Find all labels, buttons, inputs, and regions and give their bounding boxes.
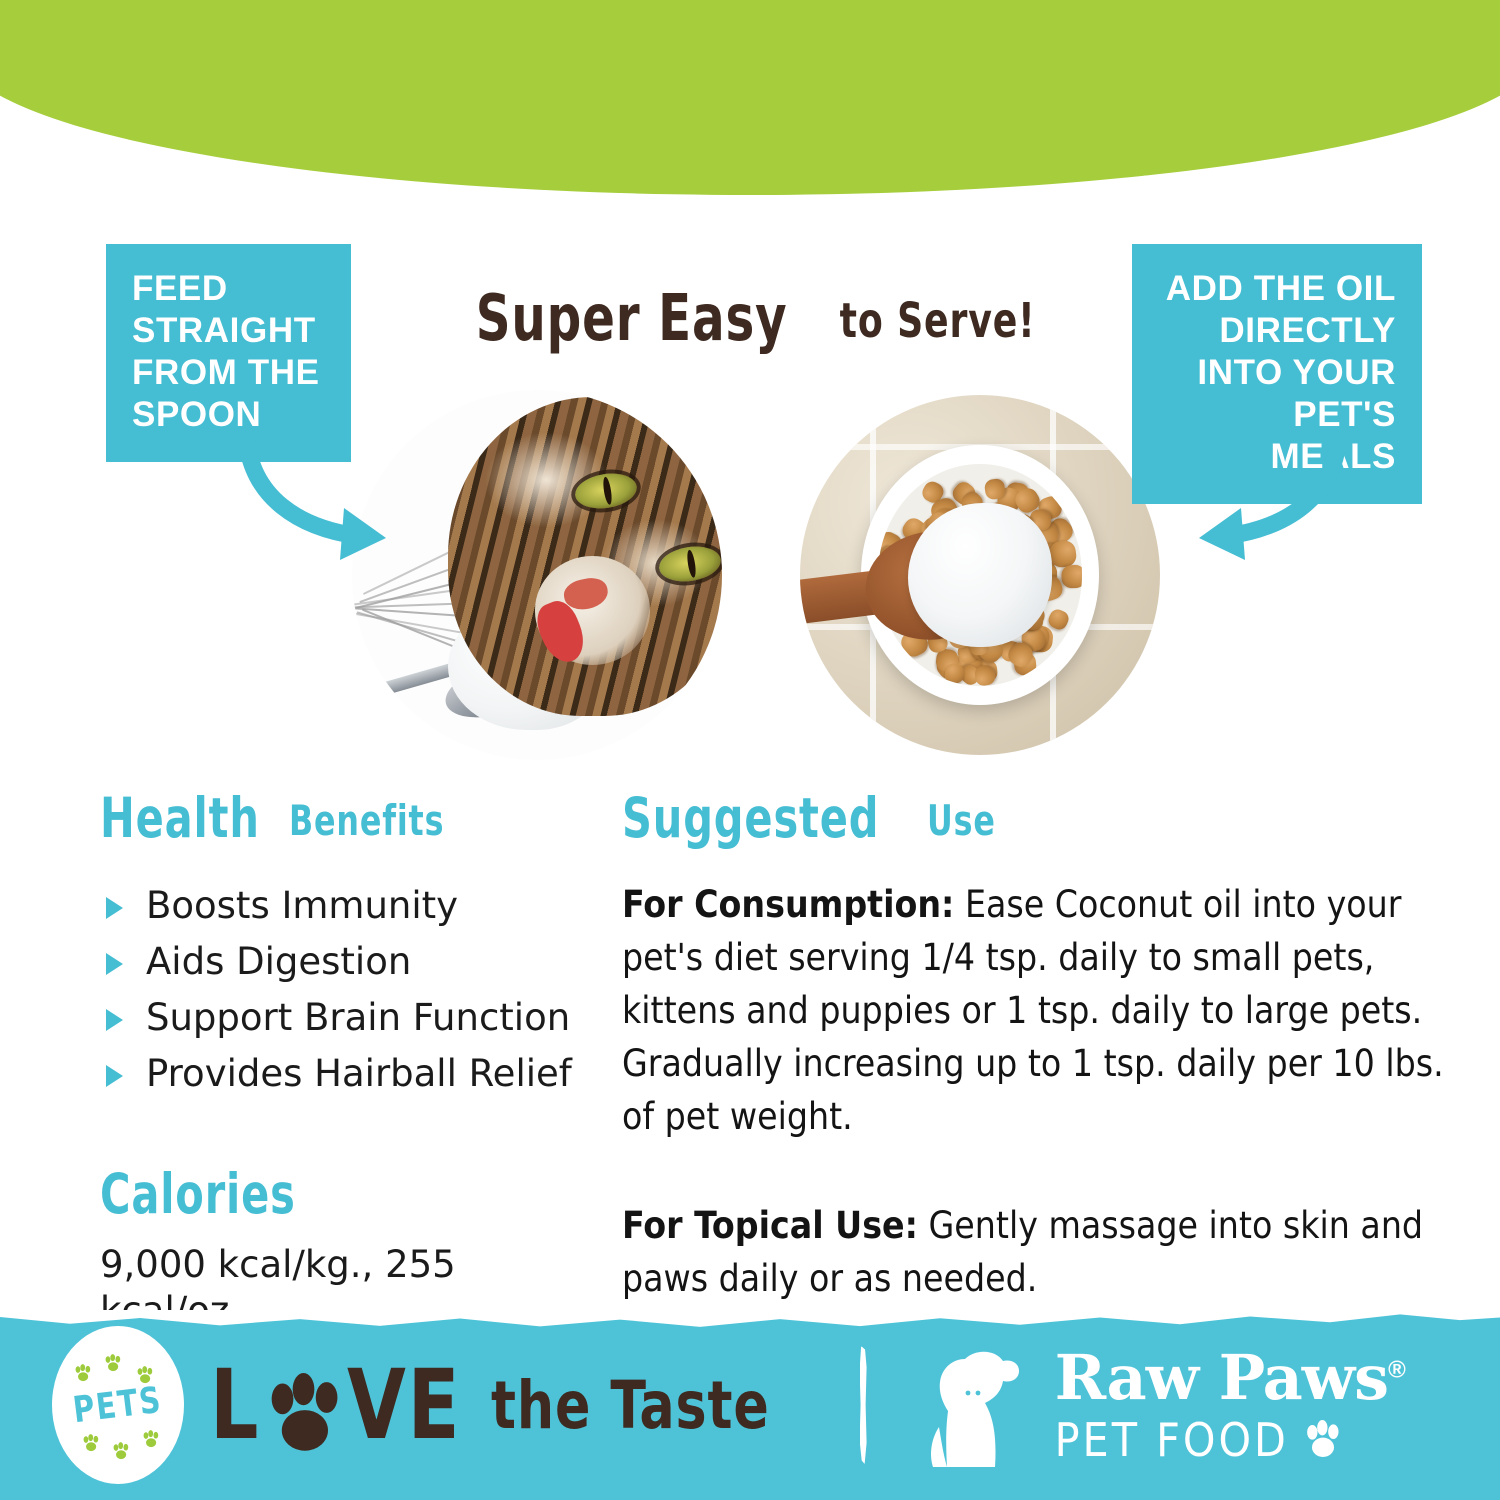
list-item: Aids Digestion xyxy=(100,934,600,990)
health-benefits-list: Boosts Immunity Aids Digestion Support B… xyxy=(100,878,600,1102)
dog-and-cat-silhouette-icon xyxy=(907,1335,1039,1475)
kibble-piece xyxy=(1062,564,1082,588)
paw-print-icon xyxy=(136,1366,155,1385)
cat-head xyxy=(448,397,722,715)
consumption-paragraph: For Consumption: Ease Coconut oil into y… xyxy=(622,878,1452,1143)
hero-heading-small: to Serve! xyxy=(840,293,1036,349)
list-item: Provides Hairball Relief xyxy=(100,1046,600,1102)
footer-teal-banner: PETS xyxy=(0,1310,1500,1500)
cat-eye-left xyxy=(573,469,640,512)
brand-name: Raw Paws® xyxy=(1055,1347,1405,1409)
list-item-label: Boosts Immunity xyxy=(146,884,458,927)
bullet-triangle-icon xyxy=(106,1065,123,1087)
suggested-use-column: Suggested Use For Consumption: Ease Coco… xyxy=(622,786,1452,1305)
brand-text-block: Raw Paws® PET FOOD xyxy=(1055,1347,1405,1463)
list-item-label: Provides Hairball Relief xyxy=(146,1052,572,1095)
health-benefits-heading: Health Benefits xyxy=(100,786,600,850)
footer-divider xyxy=(860,1346,867,1464)
suggested-use-heading: Suggested Use xyxy=(622,786,1452,850)
coconut-oil-scoop xyxy=(908,503,1052,647)
bullet-triangle-icon xyxy=(106,1009,123,1031)
brand-subtitle: PET FOOD xyxy=(1055,1417,1405,1463)
header-green-banner: Serve as a Daily Supplement xyxy=(0,0,1500,195)
paw-print-icon xyxy=(142,1430,161,1449)
love-letters-ve: VE xyxy=(347,1349,461,1461)
health-heading-large: Health xyxy=(100,786,260,850)
infographic-page: Serve as a Daily Supplement Super Easy t… xyxy=(0,0,1500,1500)
cat-eye-right xyxy=(657,542,722,585)
brand-subtitle-label: PET FOOD xyxy=(1055,1417,1289,1463)
footer-content: PETS xyxy=(0,1310,1500,1500)
pets-badge: PETS xyxy=(52,1326,184,1484)
cat-licking-spoon-photo xyxy=(352,390,722,760)
love-letter-l: L xyxy=(210,1349,260,1461)
paw-print-icon xyxy=(104,1354,123,1373)
header-title-emphasis: Daily xyxy=(540,0,823,8)
consumption-label: For Consumption: xyxy=(622,883,954,926)
health-benefits-column: Health Benefits Boosts Immunity Aids Dig… xyxy=(100,786,600,1334)
list-item-label: Support Brain Function xyxy=(146,996,570,1039)
callout-feed-from-spoon: Feed straight from the spoon xyxy=(106,244,351,462)
bullet-triangle-icon xyxy=(106,953,123,975)
tagline-rest: the Taste xyxy=(491,1367,770,1444)
brand-name-label: Raw Paws xyxy=(1055,1341,1388,1414)
paw-print-icon xyxy=(112,1442,131,1461)
bullet-triangle-icon xyxy=(106,897,123,919)
paw-print-icon xyxy=(82,1434,101,1453)
topical-label: For Topical Use: xyxy=(622,1204,918,1247)
suggested-heading-small: Use xyxy=(927,796,996,845)
love-the-taste-tagline: L VE the Taste xyxy=(210,1349,808,1461)
kibble-bowl-photo xyxy=(800,395,1160,755)
page-title: Serve as a Daily Supplement xyxy=(0,0,1460,45)
pets-badge-label: PETS xyxy=(71,1379,165,1431)
list-item: Support Brain Function xyxy=(100,990,600,1046)
paw-print-icon xyxy=(265,1372,349,1458)
kibble-piece xyxy=(943,663,964,684)
topical-paragraph: For Topical Use: Gently massage into ski… xyxy=(622,1199,1452,1305)
calories-heading-label: Calories xyxy=(100,1162,296,1226)
kibble-piece xyxy=(1046,607,1071,632)
list-item: Boosts Immunity xyxy=(100,878,600,934)
raw-paws-logo: Raw Paws® PET FOOD xyxy=(907,1335,1405,1475)
calories-heading: Calories xyxy=(100,1162,600,1226)
health-heading-small: Benefits xyxy=(289,796,444,845)
suggested-heading-large: Suggested xyxy=(622,786,879,850)
hero-heading-large: Super Easy xyxy=(475,282,787,356)
list-item-label: Aids Digestion xyxy=(146,940,411,983)
paw-print-icon xyxy=(74,1364,93,1383)
callout-add-oil-to-meals: Add the oil directly into your pet's mea… xyxy=(1132,244,1422,504)
paw-print-icon xyxy=(1303,1420,1345,1460)
registered-trademark-icon: ® xyxy=(1388,1356,1405,1383)
